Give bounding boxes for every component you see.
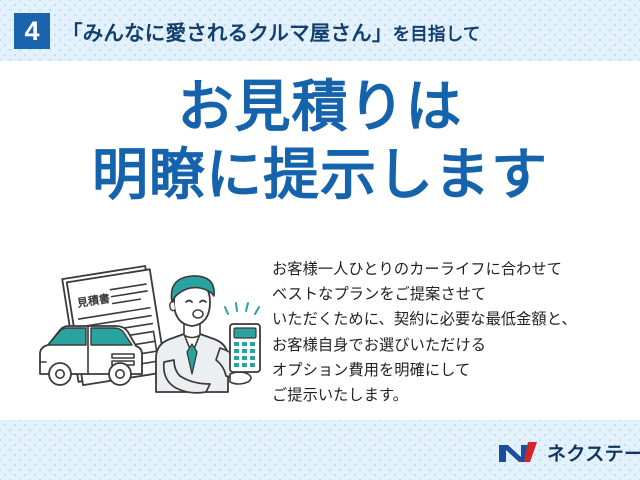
- body-line: いただくために、契約に必要な最低金額と、: [272, 307, 632, 332]
- section-number-badge: 4: [14, 13, 50, 49]
- header-title: 「みんなに愛されるクルマ屋さん」を目指して: [62, 16, 481, 46]
- calculator-icon: [230, 324, 260, 372]
- body-line: ご提示いたします。: [272, 383, 632, 408]
- headline-line-1: お見積りは: [0, 78, 640, 136]
- page-title: お見積りは 明瞭に提示します: [0, 78, 640, 203]
- headline-line-2: 明瞭に提示します: [0, 146, 640, 204]
- body-line: ベストなプランをご提案させて: [272, 282, 632, 307]
- body-line: お客様自身でお選びいただける: [272, 333, 632, 358]
- brand-logo-text: ネクステージ: [547, 439, 640, 466]
- promo-slide: 4 「みんなに愛されるクルマ屋さん」を目指して お見積りは 明瞭に提示します お…: [0, 0, 640, 480]
- body-line: お客様一人ひとりのカーライフに合わせて: [272, 257, 632, 282]
- header-title-tail: を目指して: [393, 24, 481, 44]
- nextage-n-mark-icon: [497, 438, 541, 466]
- brand-logo: ネクステージ: [497, 437, 640, 467]
- sparkle-lines-icon: [225, 303, 259, 314]
- body-line: オプション費用を明確にして: [272, 358, 632, 383]
- header-title-quoted: 「みんなに愛されるクルマ屋さん」: [62, 22, 393, 45]
- illustration-svg: 見積書: [24, 262, 272, 414]
- body-paragraph: お客様一人ひとりのカーライフに合わせて ベストなプランをご提案させて いただくた…: [272, 257, 632, 408]
- header: 4 「みんなに愛されるクルマ屋さん」を目指して: [0, 0, 640, 61]
- illustration-salesman-quote-van: 見積書: [24, 262, 272, 414]
